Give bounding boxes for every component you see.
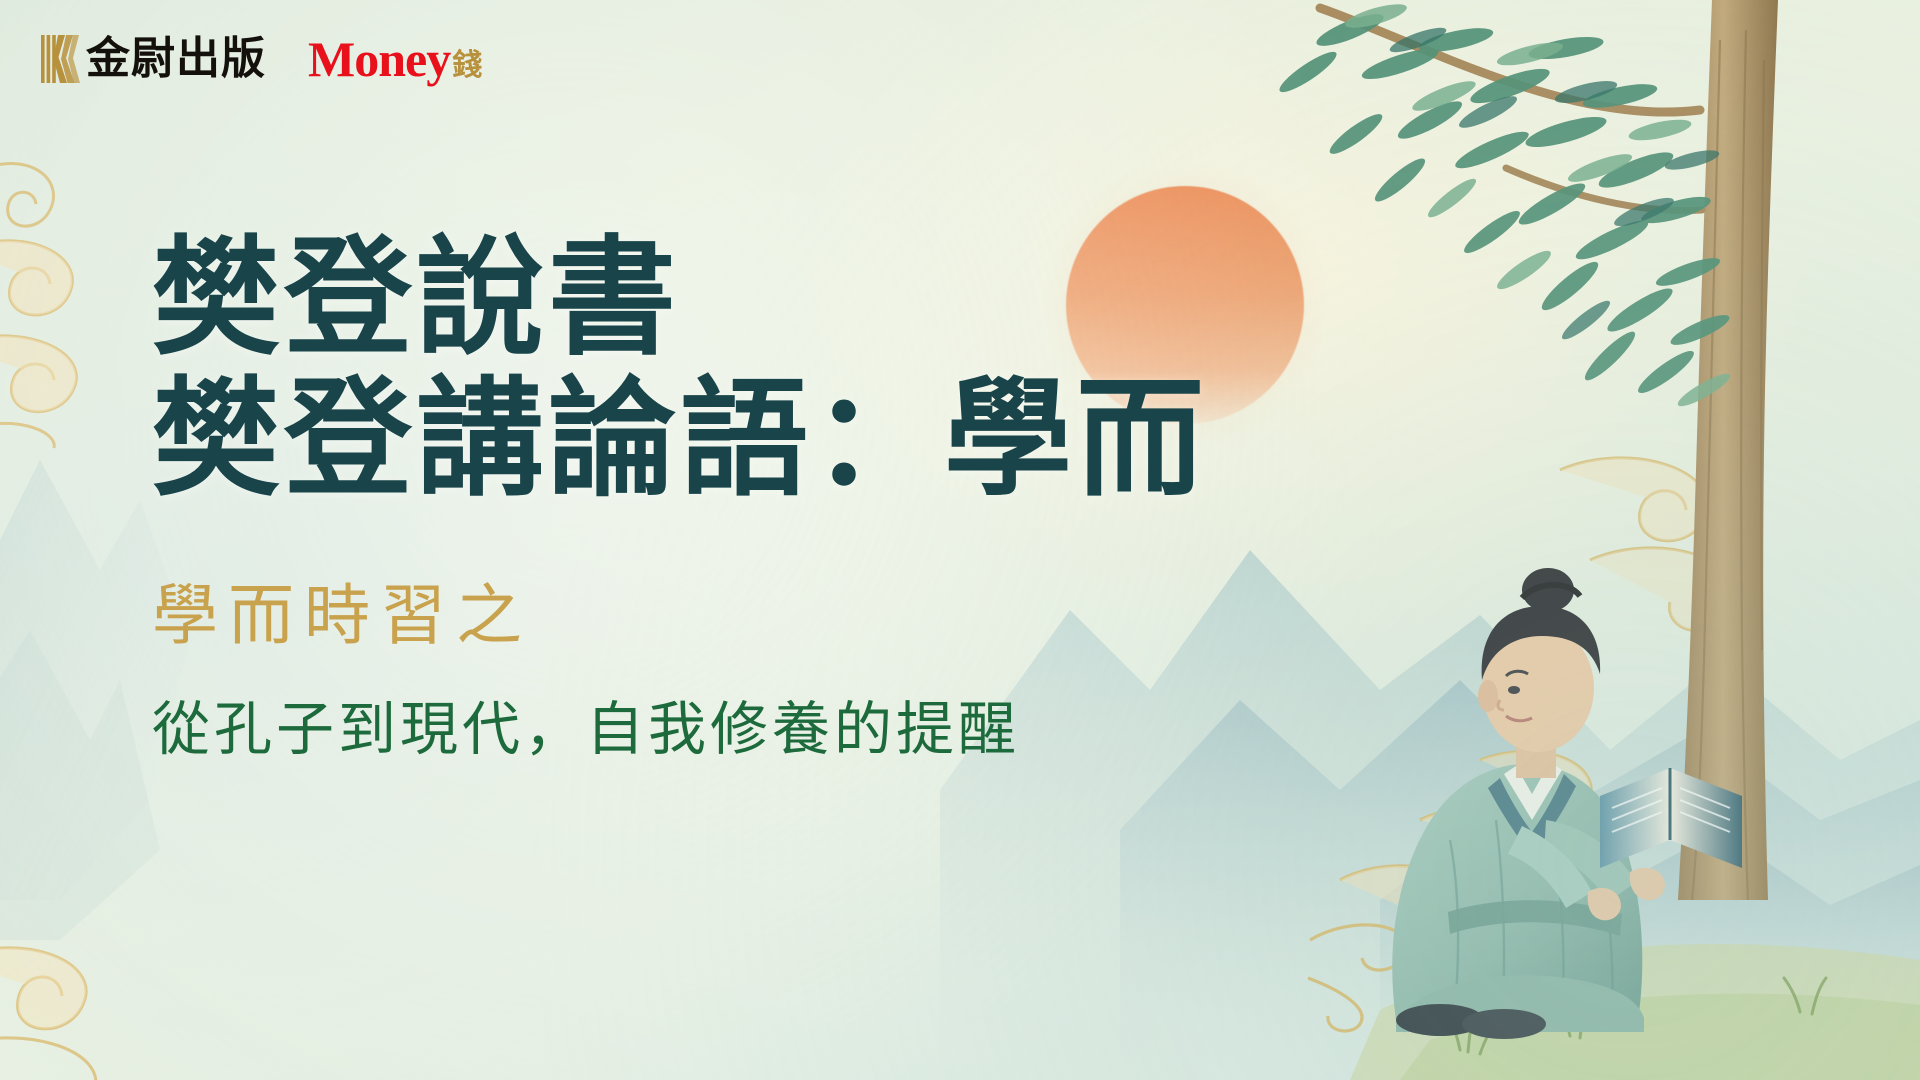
subtitle-green: 從孔子到現代，自我修養的提醒 <box>152 682 1208 766</box>
subtitle-gold: 學而時習之 <box>152 562 1208 658</box>
scholar-reading-icon <box>1300 520 1760 1040</box>
auspicious-cloud-swirl-icon <box>1530 430 1860 670</box>
headline-line-1: 樊登說書 <box>152 232 1208 365</box>
grass-tuft-icon <box>1444 978 1826 1054</box>
publisher-name: 金尉出版 <box>86 37 266 81</box>
auspicious-cloud-swirl-icon <box>1300 740 1720 1040</box>
jinwei-k-mark-icon <box>40 32 80 86</box>
open-book-icon <box>1600 768 1742 868</box>
publisher-logo[interactable]: 金尉出版 <box>40 32 266 86</box>
headline-line-2: 樊登講論語：學而 <box>152 373 1208 506</box>
poster-canvas: 金尉出版 Money 錢 樊登說書 樊登講論語：學而 學而時習之 從孔子到現代，… <box>0 0 1920 1080</box>
headline-block: 樊登說書 樊登講論語：學而 學而時習之 從孔子到現代，自我修養的提醒 <box>152 232 1208 766</box>
magazine-logo[interactable]: Money 錢 <box>308 34 482 84</box>
magazine-name-en: Money <box>308 34 450 84</box>
magazine-name-cn: 錢 <box>452 51 482 81</box>
brand-bar: 金尉出版 Money 錢 <box>40 32 482 86</box>
